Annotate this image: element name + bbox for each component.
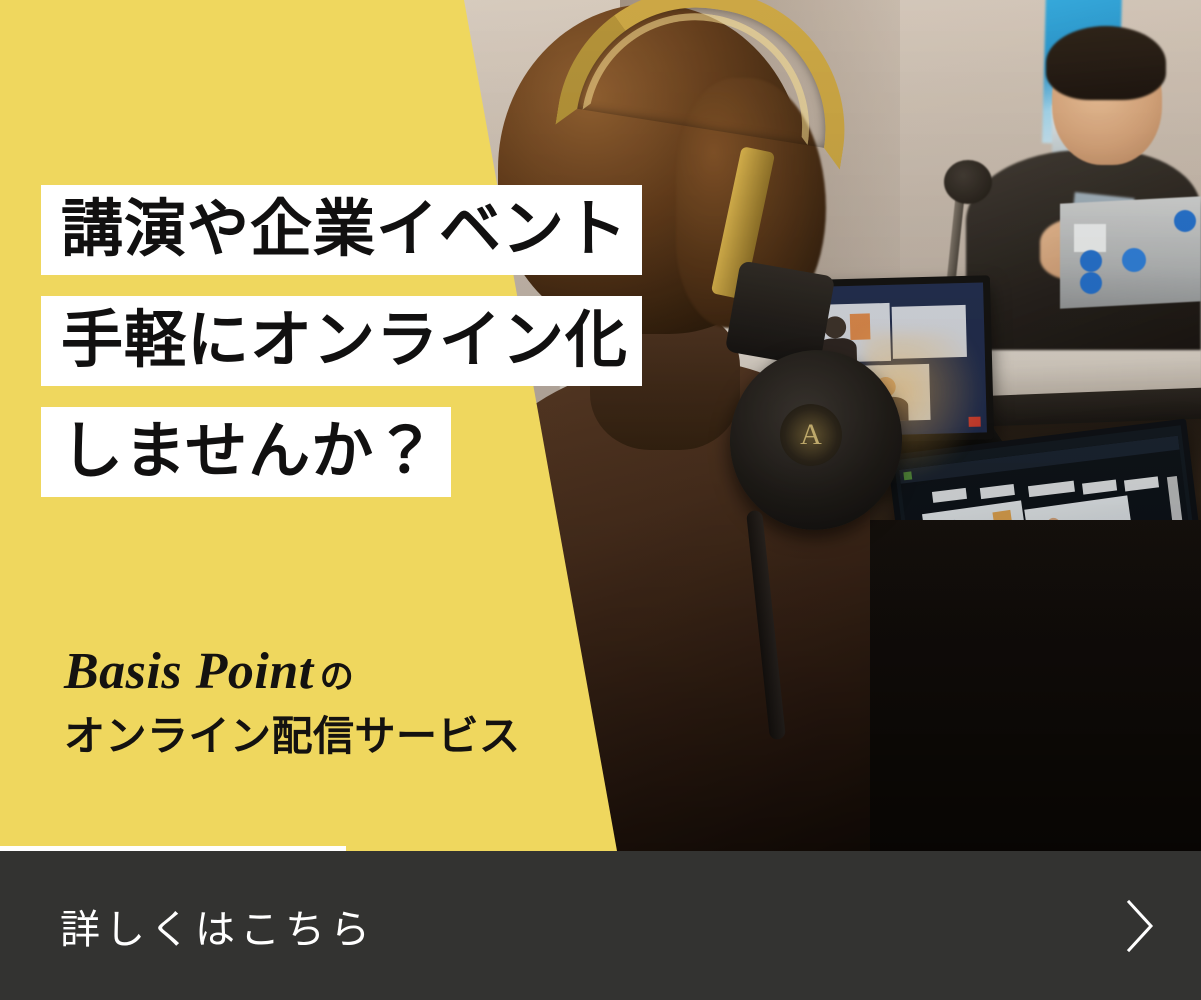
headline-line-1: 講演や企業イベント — [41, 185, 642, 275]
brand-particle: の — [320, 657, 355, 697]
cta-label: 詳しくはこちら — [60, 897, 375, 955]
headline-row: 講演や企業イベント — [41, 185, 642, 275]
seated-presenter-hair — [1046, 26, 1166, 100]
laptop-sticker-dot — [1122, 248, 1146, 272]
headphone-brand-logo: A — [780, 404, 842, 466]
service-subtext: Basis Pointの オンライン配信サービス — [64, 645, 521, 759]
brand-line: Basis Pointの — [64, 645, 521, 700]
cta-bar[interactable]: 詳しくはこちら — [0, 851, 1201, 1000]
chevron-right-icon[interactable] — [1123, 898, 1157, 954]
service-name: オンライン配信サービス — [64, 714, 521, 759]
microphone-head — [944, 160, 992, 204]
headline: 講演や企業イベント 手軽にオンライン化 しませんか？ — [41, 185, 642, 497]
laptop-sticker-dot — [1174, 210, 1196, 232]
promo-banner: A 講演や企業イベント 手軽にオンライン化 しませんか？ Basis Point… — [0, 0, 1201, 1000]
headline-row: 手軽にオンライン化 — [41, 296, 642, 386]
headline-line-2: 手軽にオンライン化 — [41, 296, 642, 386]
brand-name: Basis Point — [64, 643, 314, 700]
laptop-sticker-label — [1074, 224, 1106, 252]
laptop-sticker-dot — [1080, 250, 1102, 272]
headline-row: しませんか？ — [41, 407, 642, 497]
laptop-sticker-dot — [1080, 272, 1102, 294]
headline-line-3: しませんか？ — [41, 407, 451, 497]
